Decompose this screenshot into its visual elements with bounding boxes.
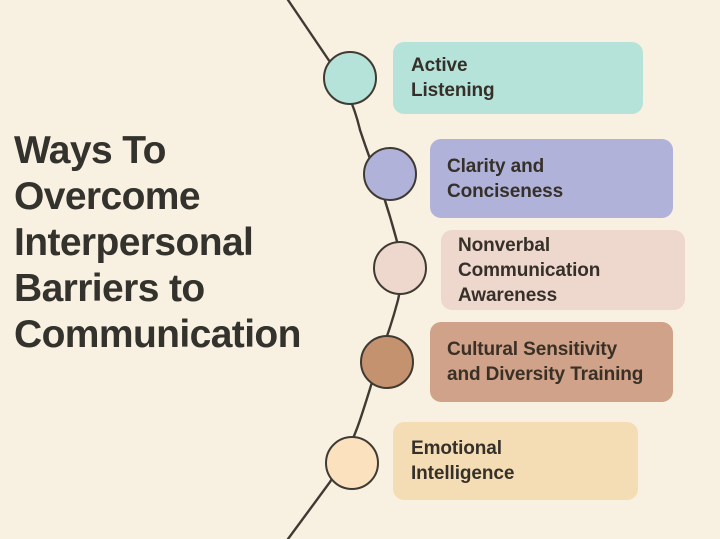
item-card-5[interactable]: Emotional Intelligence <box>393 422 638 500</box>
item-4-line-1: Cultural Sensitivity <box>447 337 673 362</box>
item-2-line-1: Clarity and <box>447 154 673 179</box>
infographic-canvas: Ways To Overcome Interpersonal Barriers … <box>0 0 720 539</box>
item-5-line-2: Intelligence <box>411 461 638 486</box>
item-3-line-2: Communication <box>458 258 685 283</box>
item-card-3[interactable]: Nonverbal Communication Awareness <box>441 230 685 310</box>
node-circle-3[interactable] <box>373 241 427 295</box>
node-circle-4[interactable] <box>360 335 414 389</box>
item-2-line-2: Conciseness <box>447 179 673 204</box>
item-1-line-2: Listening <box>411 78 643 103</box>
item-card-1[interactable]: Active Listening <box>393 42 643 114</box>
item-card-2[interactable]: Clarity and Conciseness <box>430 139 673 218</box>
item-3-line-1: Nonverbal <box>458 233 685 258</box>
item-5-line-1: Emotional <box>411 436 638 461</box>
node-circle-5[interactable] <box>325 436 379 490</box>
item-1-line-1: Active <box>411 53 643 78</box>
node-circle-1[interactable] <box>323 51 377 105</box>
item-3-line-3: Awareness <box>458 283 685 308</box>
node-circle-2[interactable] <box>363 147 417 201</box>
item-card-4[interactable]: Cultural Sensitivity and Diversity Train… <box>430 322 673 402</box>
item-4-line-2: and Diversity Training <box>447 362 673 387</box>
